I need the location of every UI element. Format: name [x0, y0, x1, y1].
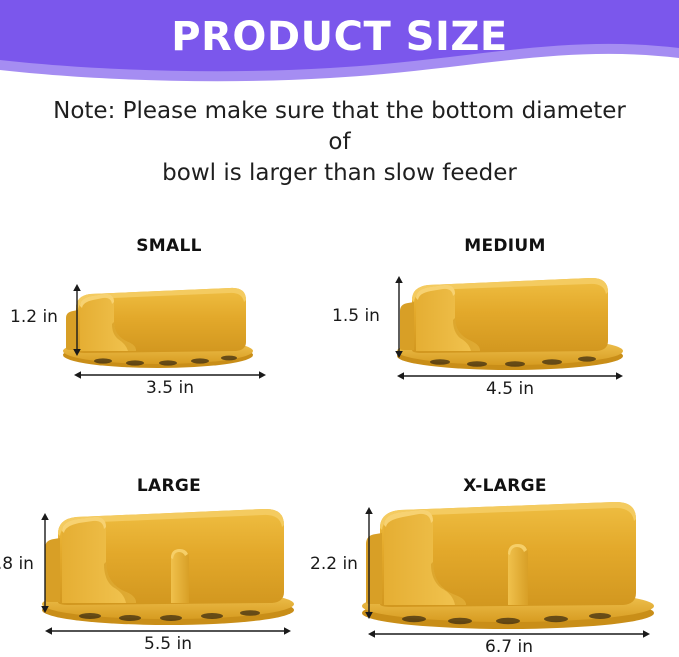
note-line-2: bowl is larger than slow feeder — [40, 158, 639, 189]
product-illustration-medium: 1.5 in 4.5 in — [340, 260, 670, 396]
size-panel-small: SMALL — [8, 236, 330, 396]
height-value-large: 1.8 in — [0, 554, 34, 574]
height-dimension-line-large — [38, 513, 52, 613]
size-label-large: LARGE — [8, 476, 330, 496]
size-label-small: SMALL — [8, 236, 330, 256]
size-label-xlarge: X-LARGE — [336, 476, 674, 496]
page-title: PRODUCT SIZE — [0, 14, 679, 60]
height-dimension-line-medium — [392, 276, 406, 358]
height-value-small: 1.2 in — [10, 307, 58, 327]
center-post-icon — [508, 544, 528, 605]
height-dimension-line-xlarge — [362, 507, 376, 619]
height-value-xlarge: 2.2 in — [310, 554, 358, 574]
width-value-xlarge: 6.7 in — [368, 637, 650, 657]
product-illustration-large: 1.8 in 5.5 in — [8, 500, 330, 644]
note-text: Note: Please make sure that the bottom d… — [40, 96, 639, 189]
slow-feeder-icon — [336, 500, 674, 644]
height-value-medium: 1.5 in — [332, 306, 380, 326]
width-value-medium: 4.5 in — [397, 379, 623, 399]
slow-feeder-icon — [8, 500, 330, 644]
height-dimension-line-small — [70, 284, 84, 356]
width-value-small: 3.5 in — [74, 378, 266, 398]
product-illustration-xlarge: 2.2 in 6.7 in — [336, 500, 674, 644]
note-line-1: Note: Please make sure that the bottom d… — [40, 96, 639, 158]
size-panels: SMALL — [0, 230, 679, 644]
size-panel-large: LARGE — [8, 476, 330, 644]
header-banner: PRODUCT SIZE — [0, 0, 679, 86]
product-illustration-small: 1.2 in 3.5 in — [8, 260, 330, 396]
size-label-medium: MEDIUM — [340, 236, 670, 256]
size-panel-medium: MEDIUM — [340, 236, 670, 396]
size-panel-xlarge: X-LARGE — [336, 476, 674, 644]
center-post-icon — [171, 549, 189, 603]
width-value-large: 5.5 in — [45, 634, 291, 654]
